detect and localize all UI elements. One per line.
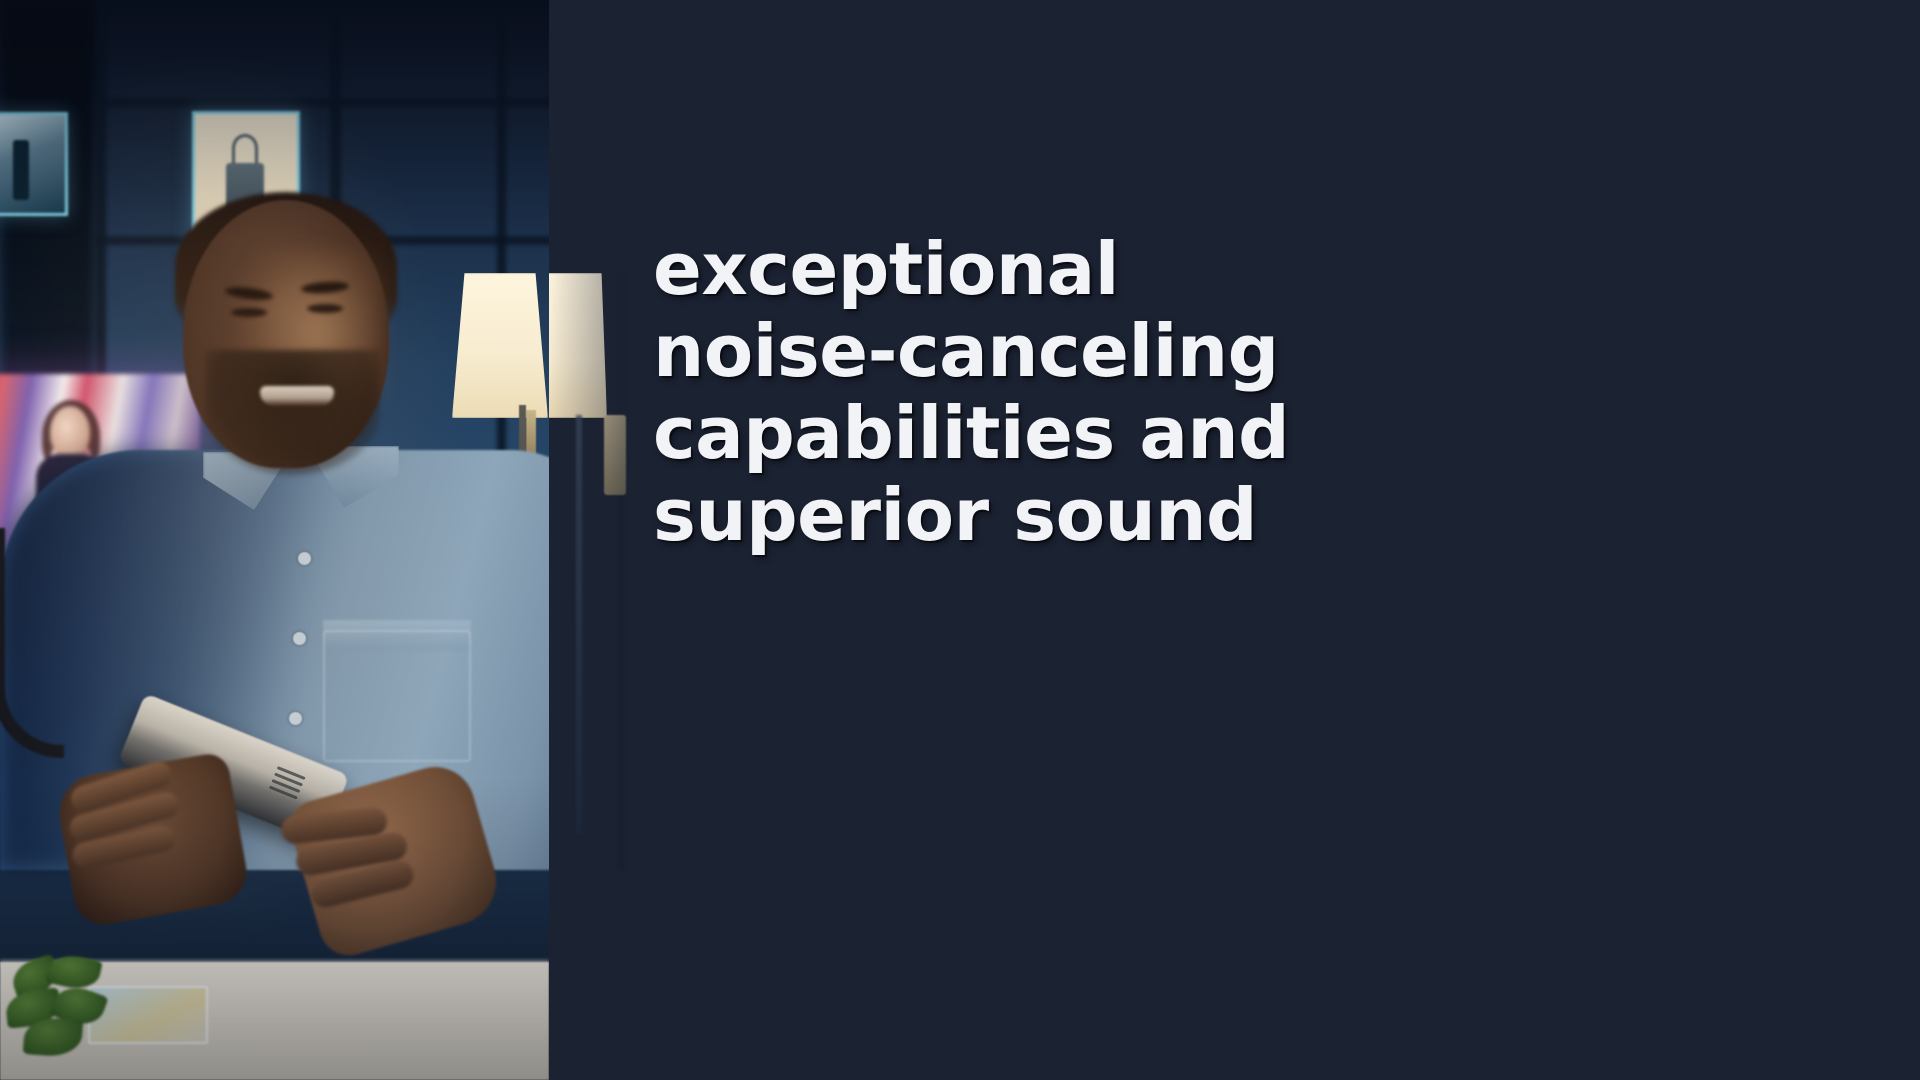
lantern-handle-icon [232, 134, 259, 163]
person-eye-left [231, 308, 267, 317]
microphone-boom-arm [0, 528, 64, 758]
person-mouth [260, 386, 334, 406]
wall-mullion-horizontal [96, 98, 549, 107]
potted-plant [6, 956, 122, 1068]
shirt-button [298, 552, 311, 565]
person-beard [205, 350, 380, 475]
caption-line-2: noise-canceling [653, 310, 1773, 392]
caption-line-3: capabilities and [653, 392, 1773, 474]
video-panel[interactable] [0, 0, 549, 1080]
caption-panel: exceptional noise-canceling capabilities… [549, 0, 1920, 1080]
shirt-button [289, 712, 302, 725]
subject-person [55, 200, 549, 840]
person-hand-left [53, 751, 251, 929]
caption-slide: exceptional noise-canceling capabilities… [0, 0, 1920, 1080]
caption-line-1: exceptional [653, 228, 1773, 310]
plant-leaf [45, 951, 103, 993]
person-eye-right [307, 304, 343, 313]
caption-line-4: superior sound [653, 474, 1773, 556]
shirt-pocket [323, 630, 471, 762]
caption-text-block: exceptional noise-canceling capabilities… [653, 228, 1773, 556]
shirt-button [293, 632, 306, 645]
